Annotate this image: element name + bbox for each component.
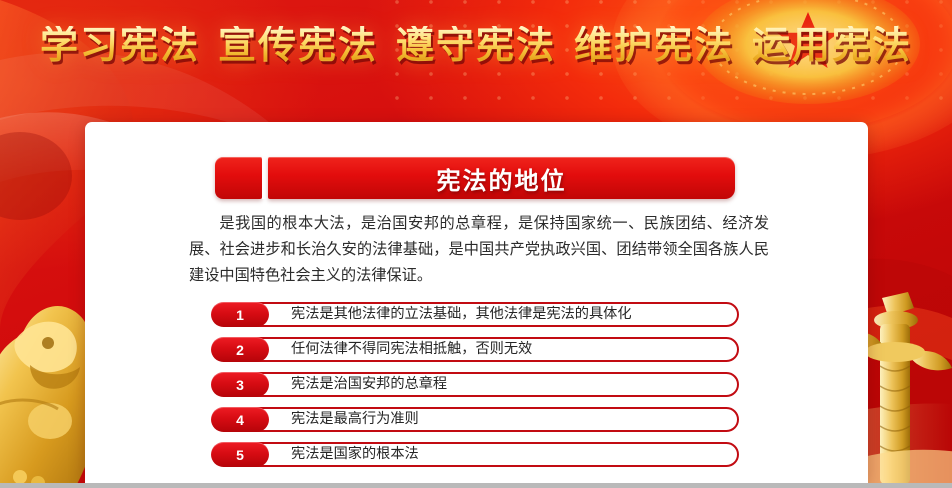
list-item-number-badge: 1	[211, 302, 269, 327]
headline-segment-2: 宣传宪法	[218, 25, 378, 67]
headline-segment-1: 学习宪法	[40, 25, 200, 67]
list-item[interactable]: 5 宪法是国家的根本法	[211, 442, 739, 467]
list-item-text: 宪法是国家的根本法	[291, 442, 419, 467]
list-item-number-badge: 3	[211, 372, 269, 397]
headline-segment-3: 遵守宪法	[396, 25, 556, 67]
title-bar-main: 宪法的地位	[268, 157, 735, 199]
section-title-text: 宪法的地位	[437, 161, 567, 196]
list-item[interactable]: 3 宪法是治国安邦的总章程	[211, 372, 739, 397]
list-item-number-badge: 2	[211, 337, 269, 362]
list-item-text: 宪法是最高行为准则	[291, 407, 419, 432]
content-card: 宪法的地位 是我国的根本大法，是治国安邦的总章程，是保持国家统一、民族团结、经济…	[85, 122, 868, 484]
list-item-text: 任何法律不得同宪法相抵触，否则无效	[291, 337, 532, 362]
poster-stage: 学习宪法宣传宪法遵守宪法维护宪法运用宪法	[0, 0, 952, 488]
list-item-number-badge: 4	[211, 407, 269, 432]
headline-segment-4: 维护宪法	[574, 25, 734, 67]
section-title-bar: 宪法的地位	[215, 157, 735, 199]
title-bar-left-cap	[215, 157, 262, 199]
list-item-number-badge: 5	[211, 442, 269, 467]
banner-headline: 学习宪法宣传宪法遵守宪法维护宪法运用宪法	[0, 26, 952, 68]
list-item-text: 宪法是治国安邦的总章程	[291, 372, 447, 397]
numbered-list: 1 宪法是其他法律的立法基础，其他法律是宪法的具体化 2 任何法律不得同宪法相抵…	[211, 302, 739, 477]
list-item[interactable]: 4 宪法是最高行为准则	[211, 407, 739, 432]
bottom-gray-strip	[0, 483, 952, 488]
list-item[interactable]: 1 宪法是其他法律的立法基础，其他法律是宪法的具体化	[211, 302, 739, 327]
body-paragraph: 是我国的根本大法，是治国安邦的总章程，是保持国家统一、民族团结、经济发展、社会进…	[189, 210, 769, 288]
headline-segment-5: 运用宪法	[752, 25, 912, 67]
list-item[interactable]: 2 任何法律不得同宪法相抵触，否则无效	[211, 337, 739, 362]
list-item-text: 宪法是其他法律的立法基础，其他法律是宪法的具体化	[291, 302, 632, 327]
